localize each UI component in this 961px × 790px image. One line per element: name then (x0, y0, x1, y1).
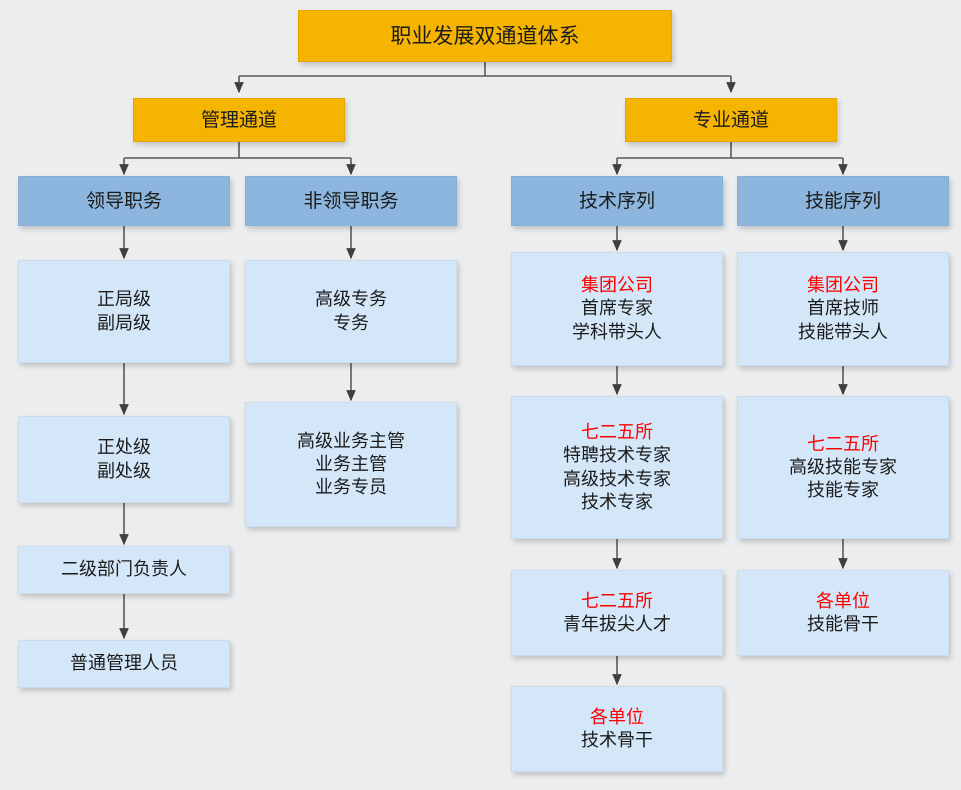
node-text-line: 正处级 (97, 436, 151, 459)
node-text-line: 正局级 (97, 288, 151, 311)
node-sub-nonleadership[interactable]: 非领导职务 (245, 176, 457, 226)
node-leadership-level2[interactable]: 正处级副处级 (18, 416, 230, 503)
node-skill-level1[interactable]: 集团公司首席技师技能带头人 (737, 252, 949, 366)
node-nonleadership-level2[interactable]: 高级业务主管业务主管业务专员 (245, 402, 457, 527)
node-leadership-level1[interactable]: 正局级副局级 (18, 260, 230, 363)
node-sub-technical-label: 技术序列 (579, 189, 655, 213)
node-text-line: 副局级 (97, 312, 151, 335)
node-sub-skill[interactable]: 技能序列 (737, 176, 949, 226)
node-text-line: 技能骨干 (807, 613, 879, 636)
node-text-line: 七二五所 (581, 590, 653, 613)
node-root-title[interactable]: 职业发展双通道体系 (298, 10, 672, 62)
node-text-line: 普通管理人员 (70, 652, 178, 675)
node-text-line: 特聘技术专家 (563, 444, 671, 467)
node-sub-technical[interactable]: 技术序列 (511, 176, 723, 226)
node-technical-level2[interactable]: 七二五所特聘技术专家高级技术专家技术专家 (511, 396, 723, 539)
node-text-line: 高级技能专家 (789, 456, 897, 479)
node-text-line: 集团公司 (807, 274, 879, 297)
node-text-line: 技术专家 (581, 491, 653, 514)
node-text-line: 学科带头人 (572, 321, 662, 344)
node-text-line: 七二五所 (807, 433, 879, 456)
node-text-line: 各单位 (816, 590, 870, 613)
node-text-line: 首席专家 (581, 297, 653, 320)
node-leadership-level3[interactable]: 二级部门负责人 (18, 546, 230, 594)
node-channel-management[interactable]: 管理通道 (133, 98, 345, 142)
node-technical-level1[interactable]: 集团公司首席专家学科带头人 (511, 252, 723, 366)
node-text-line: 技能专家 (807, 479, 879, 502)
node-leadership-level4[interactable]: 普通管理人员 (18, 640, 230, 688)
node-text-line: 技术骨干 (581, 729, 653, 752)
node-sub-nonleadership-label: 非领导职务 (303, 189, 398, 213)
node-text-line: 业务专员 (315, 476, 387, 499)
node-sub-leadership[interactable]: 领导职务 (18, 176, 230, 226)
node-sub-leadership-label: 领导职务 (86, 189, 162, 213)
node-text-line: 集团公司 (581, 274, 653, 297)
node-channel-professional[interactable]: 专业通道 (625, 98, 837, 142)
node-nonleadership-level1[interactable]: 高级专务专务 (245, 260, 457, 363)
node-root-label: 职业发展双通道体系 (391, 23, 580, 50)
node-text-line: 高级技术专家 (563, 468, 671, 491)
node-channel-professional-label: 专业通道 (693, 108, 769, 132)
node-channel-management-label: 管理通道 (201, 108, 277, 132)
node-text-line: 二级部门负责人 (61, 558, 187, 581)
node-text-line: 技能带头人 (798, 321, 888, 344)
node-sub-skill-label: 技能序列 (805, 189, 881, 213)
node-text-line: 青年拔尖人才 (563, 613, 671, 636)
node-text-line: 副处级 (97, 460, 151, 483)
node-text-line: 业务主管 (315, 453, 387, 476)
node-text-line: 高级专务 (315, 288, 387, 311)
org-chart: 职业发展双通道体系 管理通道 专业通道 领导职务 非领导职务 技术序列 技能序列… (0, 0, 961, 790)
node-text-line: 高级业务主管 (297, 430, 405, 453)
node-text-line: 七二五所 (581, 421, 653, 444)
node-text-line: 各单位 (590, 706, 644, 729)
node-skill-level2[interactable]: 七二五所高级技能专家技能专家 (737, 396, 949, 539)
node-technical-level3[interactable]: 七二五所青年拔尖人才 (511, 570, 723, 656)
node-text-line: 首席技师 (807, 297, 879, 320)
node-technical-level4[interactable]: 各单位技术骨干 (511, 686, 723, 772)
node-text-line: 专务 (333, 312, 369, 335)
node-skill-level3[interactable]: 各单位技能骨干 (737, 570, 949, 656)
